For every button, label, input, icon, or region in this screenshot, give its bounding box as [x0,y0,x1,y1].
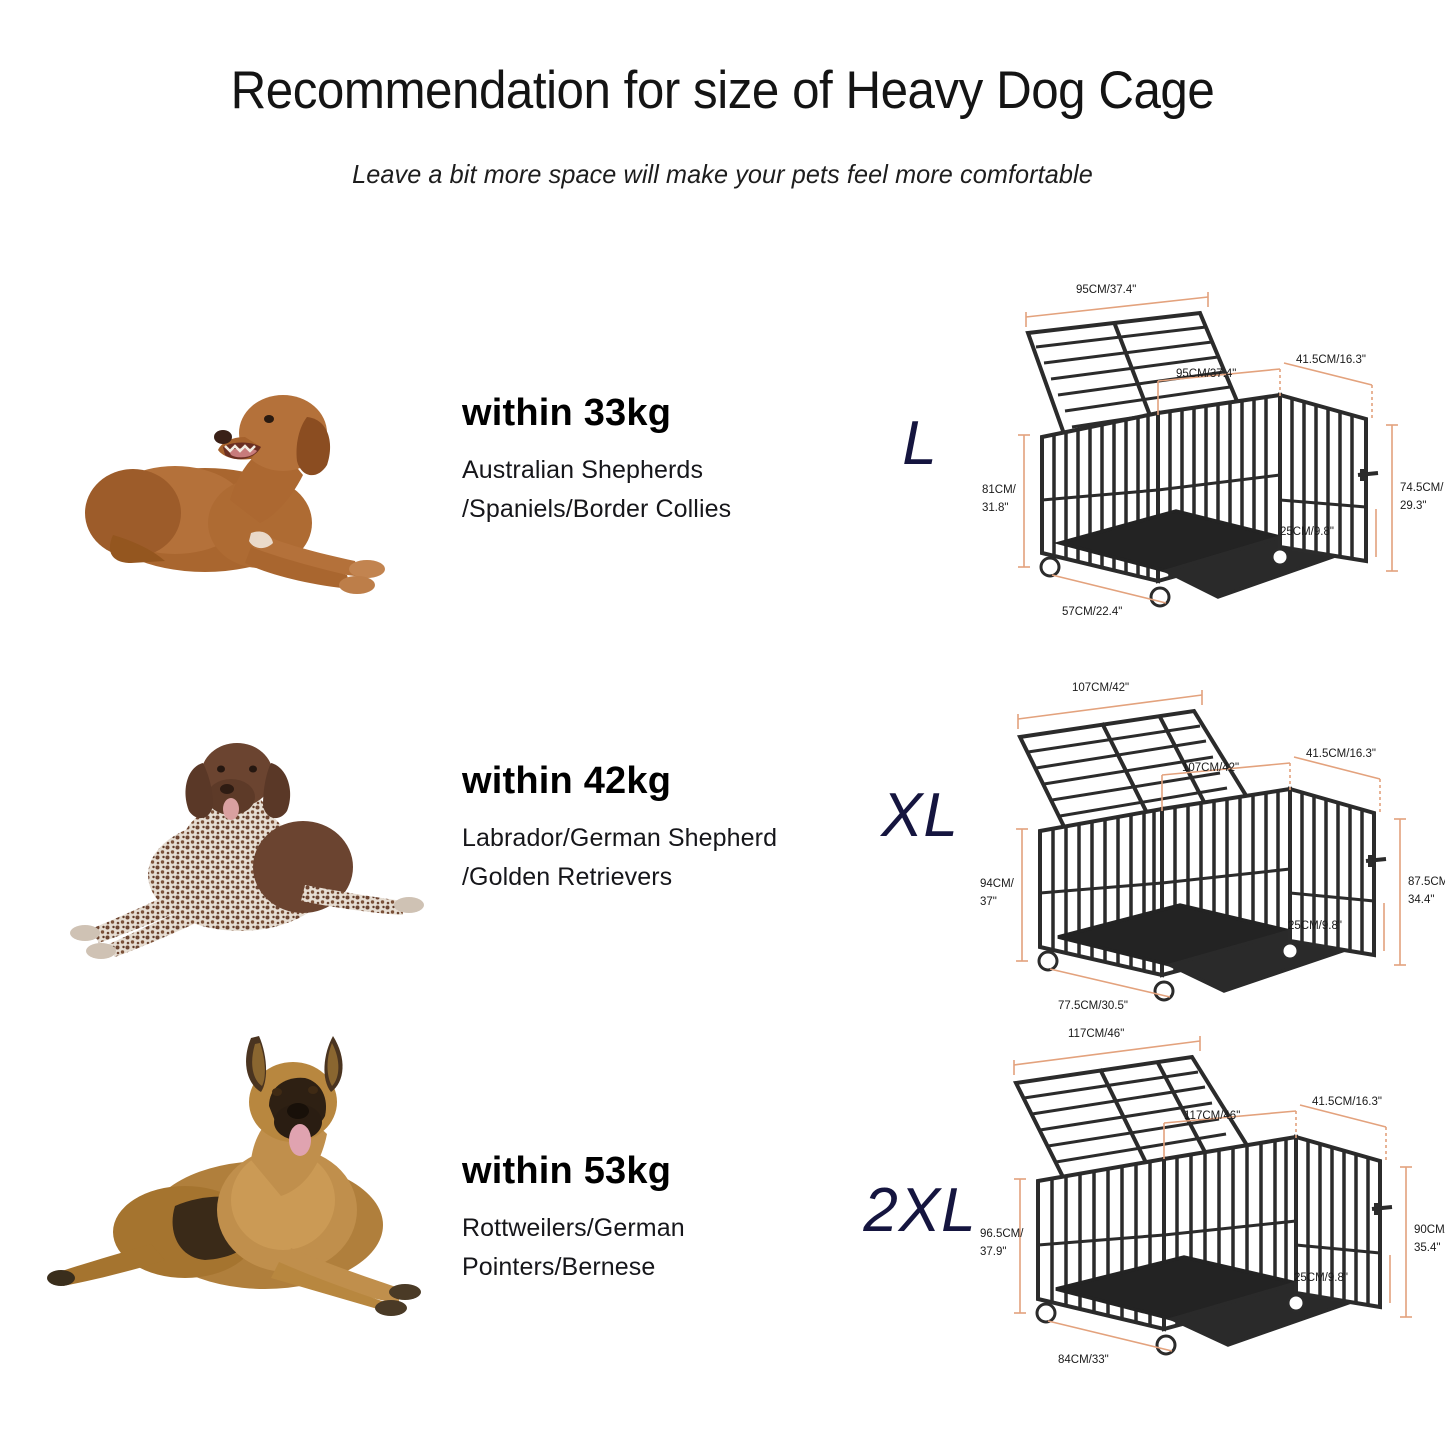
breed-line: /Golden Retrievers [462,858,842,897]
breed-line: Pointers/Bernese [462,1248,842,1287]
cage-diagram-xl: 107CM/42" 107CM/42" 41.5CM/16.3" 94CM/ 3… [980,675,1445,1005]
size-text-2xl: within 53kg Rottweilers/German Pointers/… [462,1150,842,1287]
dim-lid-width: 117CM/46" [1068,1028,1124,1040]
dim-lid-width: 95CM/37.4" [1076,284,1136,296]
size-row-xl: within 42kg Labrador/German Shepherd /Go… [0,665,1445,1025]
speckled-pointer-lying-dog-art [70,743,424,959]
size-code: 2XL [863,1176,976,1245]
size-text-xl: within 42kg Labrador/German Shepherd /Go… [462,760,842,897]
dim-door-lower: 25CM/9.8" [1294,1272,1348,1284]
dim-height-1: 94CM/ [980,878,1015,890]
cage-diagram-2xl: 117CM/46" 117CM/46" 41.5CM/16.3" 96.5CM/… [980,1025,1445,1355]
size-row-l: within 33kg Australian Shepherds /Spanie… [0,300,1445,660]
dim-door-height-1: 74.5CM/ [1400,482,1444,494]
weight-label: within 42kg [462,760,842,803]
page-title: Recommendation for size of Heavy Dog Cag… [51,60,1395,121]
dog-photo-1 [55,355,425,685]
dog-photo-3 [55,1010,425,1340]
breed-line: Rottweilers/German [462,1209,842,1248]
dim-door-width: 41.5CM/16.3" [1296,354,1366,366]
weight-label: within 53kg [462,1150,842,1193]
size-text-l: within 33kg Australian Shepherds /Spanie… [462,392,842,529]
dim-door-lower: 25CM/9.8" [1280,526,1334,538]
breed-list: Rottweilers/German Pointers/Bernese [462,1209,842,1287]
size-code-cell-l: L [845,408,995,479]
german-shepherd-lying-dog-art [47,1036,421,1316]
breed-list: Australian Shepherds /Spaniels/Border Co… [462,451,842,529]
header: Recommendation for size of Heavy Dog Cag… [0,0,1445,190]
size-code-cell-2xl: 2XL [845,1175,995,1246]
dim-door-height-1: 90CM/ [1414,1224,1445,1236]
dim-door-width: 41.5CM/16.3" [1306,748,1376,760]
breed-list: Labrador/German Shepherd /Golden Retriev… [462,819,842,897]
dim-door-height-2: 35.4" [1414,1242,1440,1254]
dim-lid-width: 107CM/42" [1072,682,1129,694]
tan-brown-lying-dog-art [85,395,385,594]
breed-line: /Spaniels/Border Collies [462,490,842,529]
dim-door-lower: 25CM/9.8" [1288,920,1342,932]
dim-height-1: 81CM/ [982,484,1017,496]
cage-diagram-l: 95CM/37.4" 95CM/37.4" 41.5CM/16.3" 81CM/… [980,285,1445,615]
dim-door-height-2: 29.3" [1400,500,1426,512]
dim-height-2: 31.8" [982,502,1008,514]
page-subtitle: Leave a bit more space will make your pe… [22,159,1424,190]
size-row-2xl: within 53kg Rottweilers/German Pointers/… [0,1010,1445,1370]
dim-body-width: 95CM/37.4" [1176,368,1236,380]
dim-body-width: 117CM/46" [1184,1110,1240,1122]
dim-height-2: 37" [980,896,997,908]
dim-door-height-2: 34.4" [1408,894,1434,906]
dim-height-2: 37.9" [980,1246,1006,1258]
infographic-page: Recommendation for size of Heavy Dog Cag… [0,0,1445,1445]
breed-line: Labrador/German Shepherd [462,819,842,858]
size-code-cell-xl: XL [845,780,995,851]
dim-height-1: 96.5CM/ [980,1228,1024,1240]
dim-door-width: 41.5CM/16.3" [1312,1096,1382,1108]
dog-photo-2 [55,715,425,1045]
breed-line: Australian Shepherds [462,451,842,490]
size-code: XL [881,781,959,850]
dim-door-height-1: 87.5CM/ [1408,876,1445,888]
size-code: L [902,409,937,478]
dim-body-width: 107CM/42" [1182,762,1239,774]
dim-depth: 57CM/22.4" [1062,606,1122,618]
weight-label: within 33kg [462,392,842,435]
dim-depth: 84CM/33" [1058,1354,1109,1366]
